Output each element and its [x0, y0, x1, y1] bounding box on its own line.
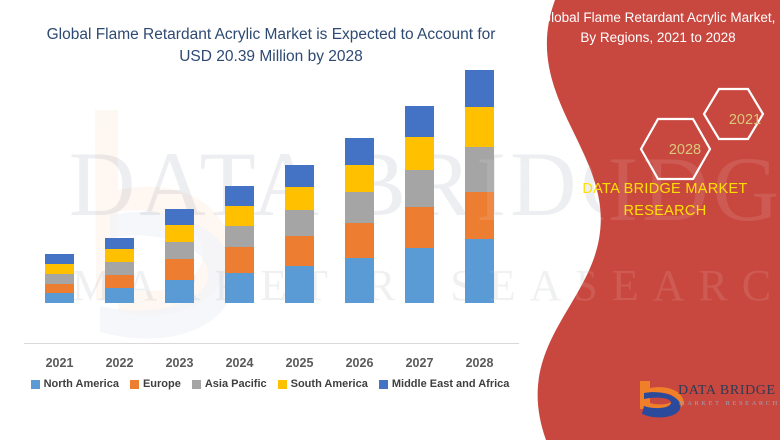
chart-legend: North AmericaEuropeAsia PacificSouth Ame…	[0, 378, 540, 390]
legend-label: North America	[44, 378, 119, 390]
bar-segment	[285, 210, 314, 235]
bar-segment	[165, 225, 194, 242]
legend-label: Europe	[143, 378, 181, 390]
legend-swatch-icon	[130, 380, 139, 389]
legend-swatch-icon	[192, 380, 201, 389]
x-axis-label: 2025	[270, 356, 330, 370]
legend-label: South America	[291, 378, 368, 390]
legend-swatch-icon	[31, 380, 40, 389]
bar-segment	[105, 288, 134, 303]
brand-line-2: RESEARCH	[555, 200, 775, 222]
hexagon-2021-label: 2021	[718, 112, 772, 128]
panel-title: Global Flame Retardant Acrylic Market, B…	[540, 8, 776, 49]
x-axis-label: 2024	[210, 356, 270, 370]
bar-segment	[285, 236, 314, 266]
bar-2028	[465, 70, 494, 303]
bar-segment	[465, 239, 494, 303]
bar-segment	[45, 254, 74, 264]
brand-name: DATA BRIDGE MARKET RESEARCH	[555, 178, 775, 223]
bar-segment	[225, 186, 254, 205]
bar-2025	[285, 165, 314, 303]
bar-segment	[405, 207, 434, 248]
bar-segment	[165, 209, 194, 225]
bar-segment	[165, 242, 194, 260]
legend-label: Middle East and Africa	[392, 378, 510, 390]
bar-segment	[405, 137, 434, 170]
bar-segment	[45, 264, 74, 274]
bar-chart-plot: 20212022202320242025202620272028	[0, 0, 540, 400]
legend-item[interactable]: South America	[278, 378, 368, 390]
x-axis-label: 2021	[30, 356, 90, 370]
x-axis-label: 2023	[150, 356, 210, 370]
x-axis-line	[24, 343, 519, 344]
bar-segment	[345, 223, 374, 258]
bar-segment	[345, 192, 374, 223]
bar-segment	[105, 249, 134, 262]
bar-segment	[165, 259, 194, 279]
bar-segment	[225, 206, 254, 226]
bar-segment	[345, 165, 374, 192]
bar-segment	[285, 266, 314, 303]
logo-wordmark: DATA BRIDGE	[678, 383, 776, 399]
bar-2026	[345, 138, 374, 303]
bar-2024	[225, 186, 254, 303]
bar-segment	[45, 284, 74, 294]
legend-label: Asia Pacific	[205, 378, 267, 390]
bar-segment	[225, 247, 254, 272]
bar-2023	[165, 209, 194, 303]
logo-tagline: MARKET RESEARCH	[679, 400, 780, 407]
bar-segment	[165, 280, 194, 303]
x-axis-label: 2028	[450, 356, 510, 370]
bar-segment	[405, 106, 434, 137]
hexagon-graphic: 2021 2028	[580, 85, 776, 185]
bar-2021	[45, 254, 74, 303]
hexagon-2028-label: 2028	[658, 142, 712, 158]
bar-segment	[225, 273, 254, 303]
bar-segment	[405, 248, 434, 303]
legend-item[interactable]: Europe	[130, 378, 181, 390]
brand-line-1: DATA BRIDGE MARKET	[555, 178, 775, 200]
bar-segment	[285, 165, 314, 187]
legend-item[interactable]: Middle East and Africa	[379, 378, 510, 390]
bar-segment	[405, 170, 434, 207]
legend-swatch-icon	[379, 380, 388, 389]
bar-segment	[465, 107, 494, 147]
x-axis-label: 2026	[330, 356, 390, 370]
bar-segment	[45, 274, 74, 284]
legend-swatch-icon	[278, 380, 287, 389]
bar-segment	[465, 70, 494, 107]
bar-segment	[105, 275, 134, 289]
bar-segment	[105, 262, 134, 275]
bar-segment	[345, 258, 374, 303]
bar-2027	[405, 106, 434, 303]
bar-segment	[345, 138, 374, 164]
bar-segment	[105, 238, 134, 250]
bar-segment	[465, 192, 494, 239]
x-axis-label: 2027	[390, 356, 450, 370]
bar-segment	[465, 147, 494, 192]
x-axis-label: 2022	[90, 356, 150, 370]
bar-segment	[225, 226, 254, 247]
bar-segment	[285, 187, 314, 210]
infographic-canvas: DATA BRIDGE MARKET RESEARCH Global Flame…	[0, 0, 780, 440]
bar-2022	[105, 238, 134, 303]
legend-item[interactable]: North America	[31, 378, 119, 390]
bar-segment	[45, 293, 74, 303]
legend-item[interactable]: Asia Pacific	[192, 378, 267, 390]
